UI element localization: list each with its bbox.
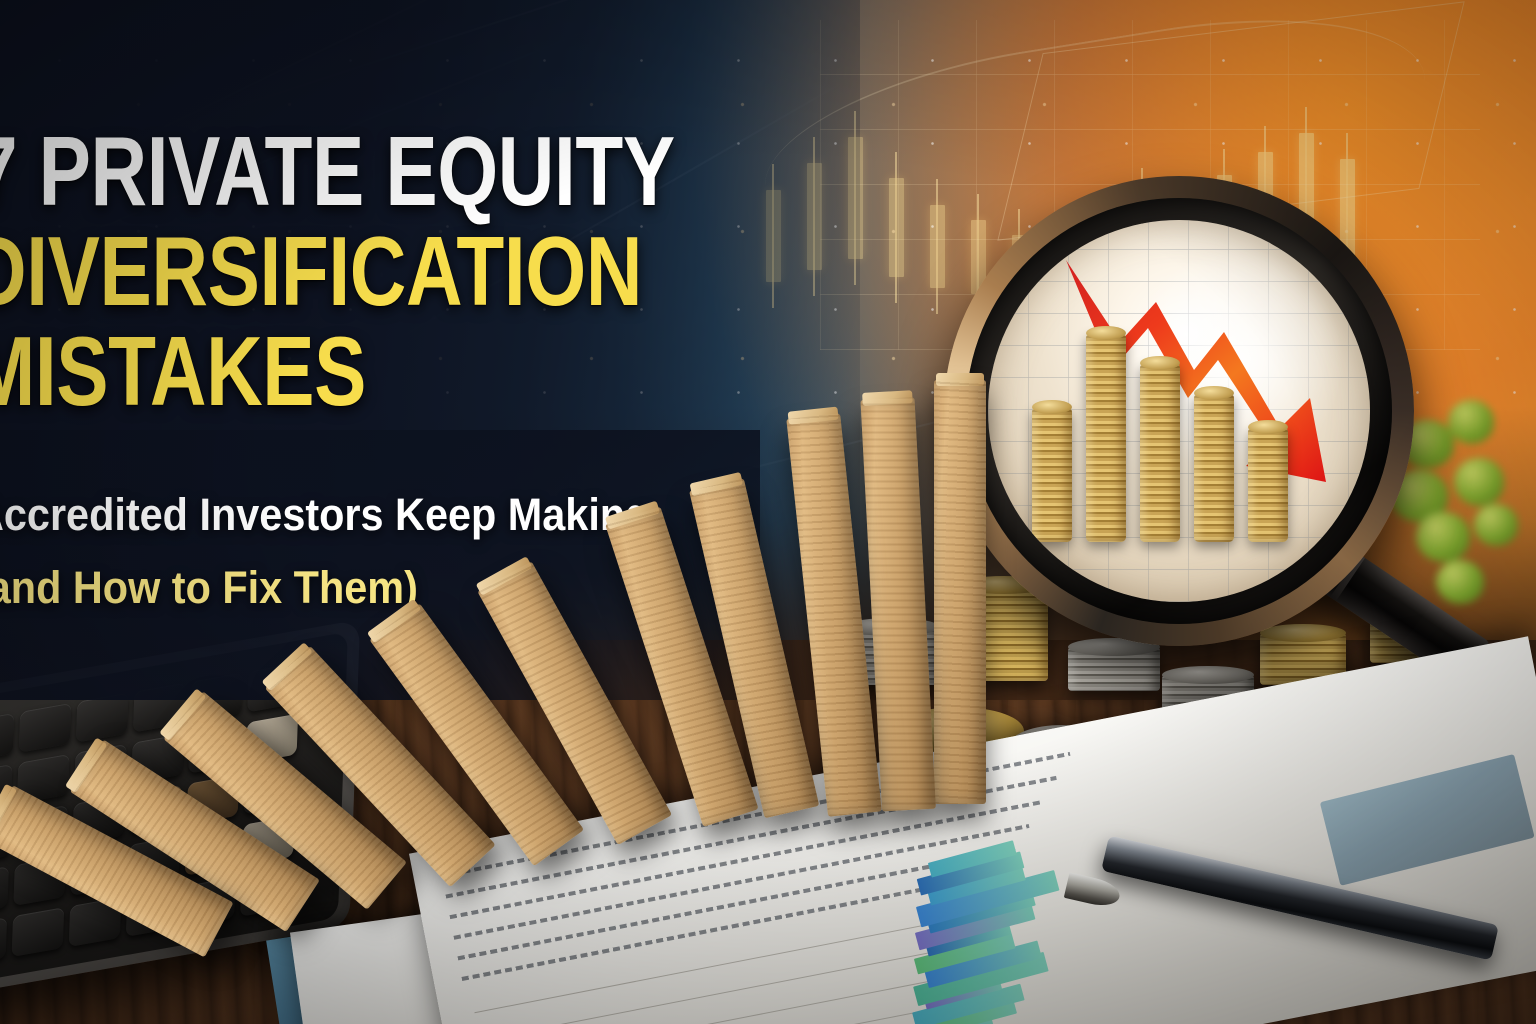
domino-top-face [0, 784, 17, 841]
report-rule [490, 1013, 912, 1024]
headline-line-3: MISTAKES [0, 322, 366, 420]
report-rule [485, 979, 937, 1024]
subheadline-line-2: (and How to Fix Them) [0, 563, 418, 613]
lens-coin-stack [1032, 407, 1072, 542]
banner-image: 7 PRIVATE EQUITY DIVERSIFICATION MISTAKE… [0, 0, 1536, 1024]
report-area-chart [1320, 754, 1535, 886]
lens-coin-stack [1086, 333, 1126, 542]
lens-coin-stack [1140, 363, 1180, 542]
report-rule [480, 946, 961, 1024]
subheadline-line-1: Accredited Investors Keep Making [0, 490, 650, 540]
domino-top-face [862, 390, 913, 406]
domino-top-face [936, 373, 984, 386]
lens-coin-stack [1194, 393, 1234, 542]
headline-line-2: DIVERSIFICATION [0, 222, 642, 320]
headline-line-1: 7 PRIVATE EQUITY [0, 122, 675, 220]
lens-coin-stack [1248, 427, 1288, 542]
domino [934, 380, 986, 804]
